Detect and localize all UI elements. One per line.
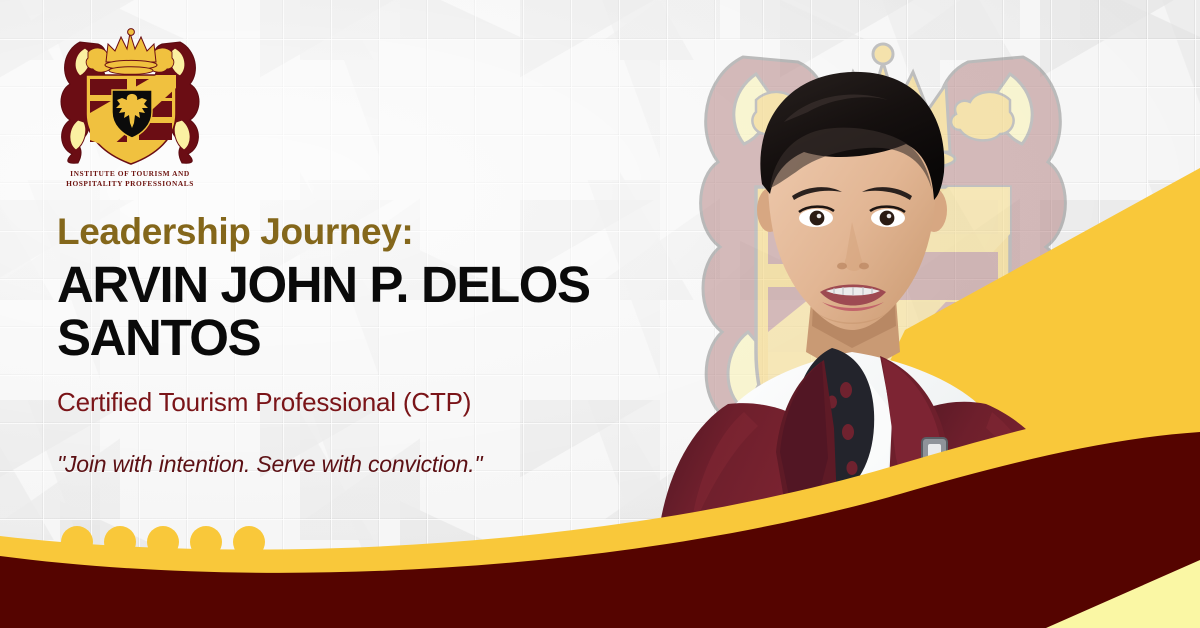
kicker-text: Leadership Journey: [57,208,657,256]
headline-block: Leadership Journey: ARVIN JOHN P. DELOS … [57,208,657,478]
organization-name: INSTITUTE OF TOURISM AND HOSPITALITY PRO… [50,169,210,188]
leadership-journey-banner: INSTITUTE OF TOURISM AND HOSPITALITY PRO… [0,0,1200,628]
dot-5 [233,526,265,558]
dot-2 [104,526,136,558]
decorative-dots [61,526,265,558]
itp-heraldic-crest-icon [50,28,210,168]
brand-logo: INSTITUTE OF TOURISM AND HOSPITALITY PRO… [50,28,210,193]
tagline-quote: "Join with intention. Serve with convict… [57,450,657,478]
dot-3 [147,526,179,558]
credential-text: Certified Tourism Professional (CTP) [57,386,657,418]
page-title: ARVIN JOHN P. DELOS SANTOS [57,258,657,364]
dot-4 [190,526,222,558]
portrait-photo [656,60,1096,628]
dot-1 [61,526,93,558]
